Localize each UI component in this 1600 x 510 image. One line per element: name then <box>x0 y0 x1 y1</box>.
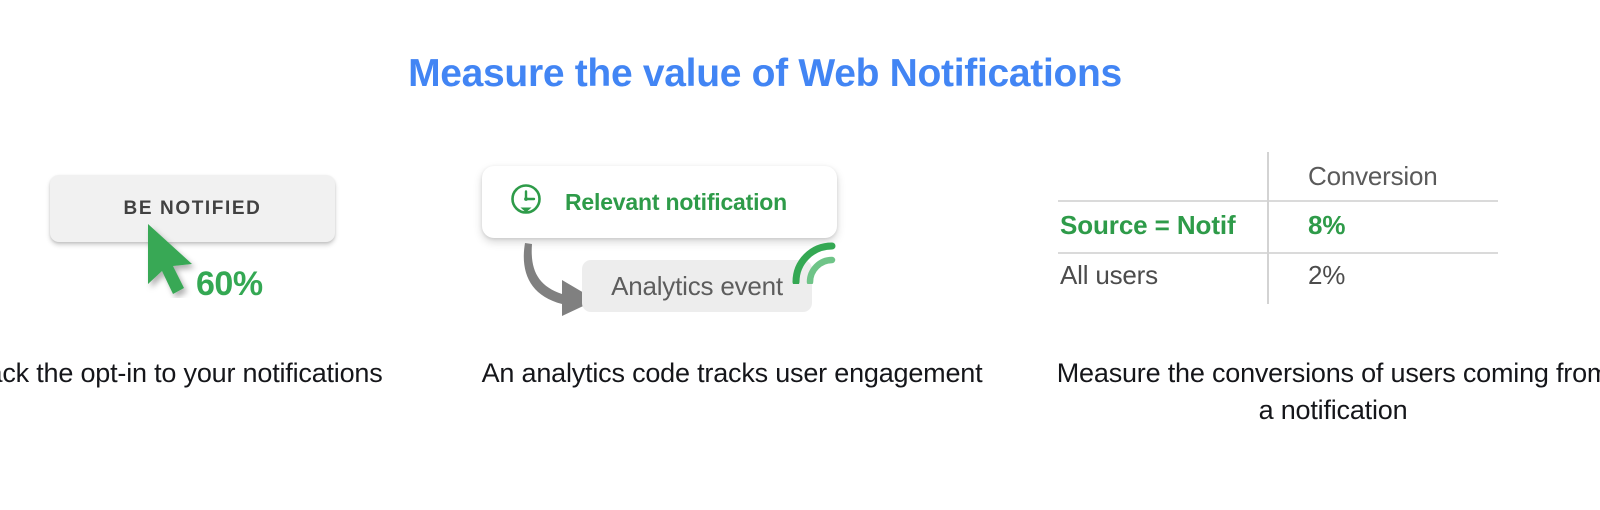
panel-analytics-caption: An analytics code tracks user engagement <box>452 355 1012 392</box>
panel-conversion-caption: Measure the conversions of users coming … <box>1048 355 1600 429</box>
table-row: Source = Notif 8% <box>1052 200 1502 250</box>
relevant-notification-card[interactable]: Relevant notification <box>482 166 837 238</box>
table-row: All users 2% <box>1052 250 1502 300</box>
clock-pin-icon <box>508 182 544 222</box>
table-row-label-all-users: All users <box>1060 260 1158 290</box>
table-header-row: Conversion <box>1052 152 1502 200</box>
panels-container: BE NOTIFIED 60% Track the opt-in to your… <box>0 140 1600 450</box>
analytics-event-label: Analytics event <box>611 271 783 302</box>
opt-in-visual: BE NOTIFIED 60% <box>0 140 470 340</box>
table-row-label-source-notif: Source = Notif <box>1060 210 1236 240</box>
panel-analytics: Relevant notification Analytics event An… <box>470 140 1030 450</box>
conversion-table: Conversion Source = Notif 8% <box>1052 152 1502 300</box>
analytics-event-chip[interactable]: Analytics event <box>582 260 812 312</box>
infographic-page: Measure the value of Web Notifications B… <box>0 0 1600 510</box>
table-header-conversion: Conversion <box>1308 161 1438 191</box>
conversion-visual: Conversion Source = Notif 8% <box>1030 140 1600 340</box>
relevant-notification-label: Relevant notification <box>565 189 787 216</box>
panel-opt-in-caption: Track the opt-in to your notifications <box>0 355 408 392</box>
cursor-arrow-icon <box>142 222 204 298</box>
be-notified-button-label: BE NOTIFIED <box>124 198 262 220</box>
table-row-value-source-notif: 8% <box>1308 210 1345 240</box>
panel-conversion: Conversion Source = Notif 8% <box>1030 140 1600 450</box>
page-title: Measure the value of Web Notifications <box>0 52 1530 96</box>
table-row-value-all-users: 2% <box>1308 260 1345 290</box>
analytics-visual: Relevant notification Analytics event <box>470 140 1030 340</box>
signal-waves-icon <box>788 236 840 284</box>
panel-opt-in: BE NOTIFIED 60% Track the opt-in to your… <box>0 140 470 450</box>
opt-in-percentage: 60% <box>196 265 263 304</box>
